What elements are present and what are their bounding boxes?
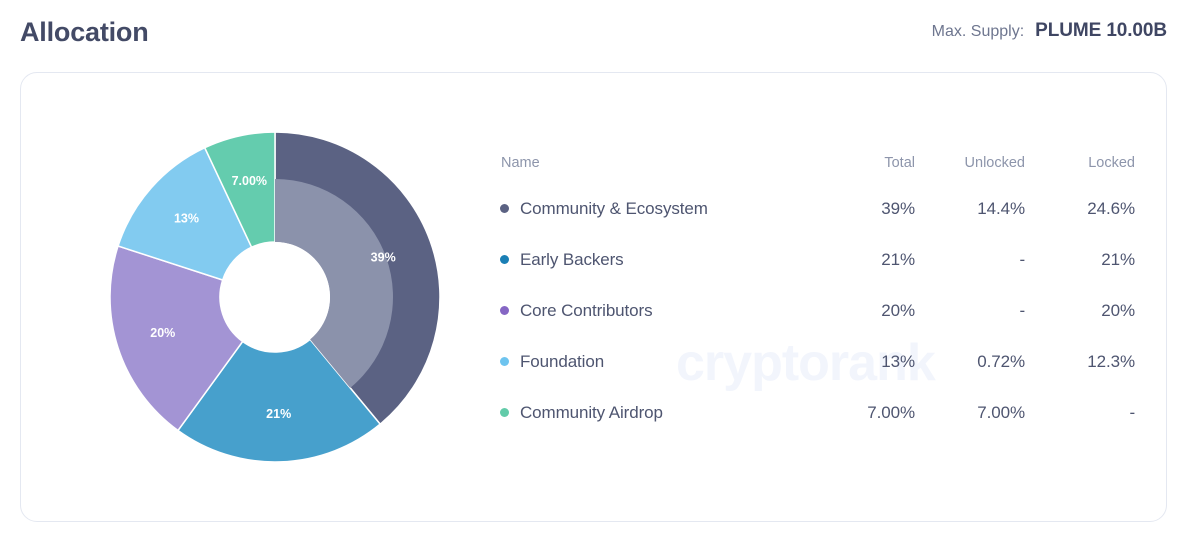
donut-slice-label: 21% — [266, 407, 291, 421]
cell-total-value: 21% — [881, 250, 915, 269]
cell-locked: 21% — [1025, 250, 1135, 270]
table-row[interactable]: Early Backers21%-21% — [485, 234, 1135, 285]
cell-total-value: 7.00% — [867, 403, 915, 422]
donut-svg: 39%21%20%13%7.00% — [89, 125, 461, 470]
cell-locked-value: 20% — [1101, 301, 1135, 320]
cell-locked-value: 24.6% — [1087, 199, 1135, 218]
cell-total: 39% — [815, 199, 915, 219]
table-row[interactable]: Community & Ecosystem39%14.4%24.6% — [485, 183, 1135, 234]
table-body: Community & Ecosystem39%14.4%24.6%Early … — [485, 183, 1135, 438]
max-supply-block: Max. Supply: PLUME 10.00B — [932, 20, 1167, 42]
cell-unlocked-value: 14.4% — [977, 199, 1025, 218]
cell-total: 7.00% — [815, 403, 915, 423]
cell-name: Early Backers — [485, 250, 815, 270]
cell-total-value: 39% — [881, 199, 915, 218]
allocation-donut-chart: 39%21%20%13%7.00% — [89, 125, 461, 470]
column-header-unlocked: Unlocked — [915, 155, 1025, 171]
table-row[interactable]: Community Airdrop7.00%7.00%- — [485, 387, 1135, 438]
cell-name: Foundation — [485, 352, 815, 372]
page-header: Allocation Max. Supply: PLUME 10.00B — [0, 0, 1187, 62]
donut-slice-label: 13% — [174, 211, 199, 225]
cell-total: 20% — [815, 301, 915, 321]
legend-dot-icon — [500, 255, 509, 264]
cell-unlocked: 14.4% — [915, 199, 1025, 219]
cell-locked: 24.6% — [1025, 199, 1135, 219]
cell-total: 13% — [815, 352, 915, 372]
donut-slice-label: 39% — [371, 250, 396, 264]
cell-locked: 12.3% — [1025, 352, 1135, 372]
column-header-total: Total — [815, 155, 915, 171]
cell-locked: - — [1025, 403, 1135, 423]
cell-total-value: 20% — [881, 301, 915, 320]
cell-unlocked: 0.72% — [915, 352, 1025, 372]
cell-unlocked: - — [915, 250, 1025, 270]
allocation-name: Community & Ecosystem — [520, 199, 708, 219]
cell-name: Core Contributors — [485, 301, 815, 321]
legend-dot-icon — [500, 408, 509, 417]
cell-total: 21% — [815, 250, 915, 270]
legend-dot-icon — [500, 357, 509, 366]
table-row[interactable]: Foundation13%0.72%12.3% — [485, 336, 1135, 387]
allocation-card: cryptorank 39%21%20%13%7.00% Name Total … — [20, 72, 1167, 522]
allocation-name: Core Contributors — [520, 301, 652, 321]
legend-dot-icon — [500, 204, 509, 213]
allocation-name: Early Backers — [520, 250, 624, 270]
table-row[interactable]: Core Contributors20%-20% — [485, 285, 1135, 336]
donut-hole — [220, 242, 330, 352]
column-header-name: Name — [485, 155, 815, 171]
donut-slice-label: 7.00% — [232, 174, 267, 188]
page-title: Allocation — [20, 19, 149, 46]
donut-slice-label: 20% — [150, 326, 175, 340]
allocation-table: Name Total Unlocked Locked Community & E… — [485, 143, 1135, 438]
cell-unlocked-value: 0.72% — [977, 352, 1025, 371]
cell-name: Community Airdrop — [485, 403, 815, 423]
max-supply-label: Max. Supply: — [932, 23, 1024, 41]
cell-unlocked-value: 7.00% — [977, 403, 1025, 422]
cell-unlocked: - — [915, 301, 1025, 321]
allocation-name: Community Airdrop — [520, 403, 663, 423]
table-header-row: Name Total Unlocked Locked — [485, 143, 1135, 183]
column-header-locked: Locked — [1025, 155, 1135, 171]
max-supply-value: PLUME 10.00B — [1035, 20, 1167, 42]
allocation-name: Foundation — [520, 352, 604, 372]
cell-locked-value: 12.3% — [1087, 352, 1135, 371]
cell-locked: 20% — [1025, 301, 1135, 321]
cell-locked-value: - — [1129, 403, 1135, 422]
cell-name: Community & Ecosystem — [485, 199, 815, 219]
cell-total-value: 13% — [881, 352, 915, 371]
cell-unlocked: 7.00% — [915, 403, 1025, 423]
legend-dot-icon — [500, 306, 509, 315]
cell-locked-value: 21% — [1101, 250, 1135, 269]
